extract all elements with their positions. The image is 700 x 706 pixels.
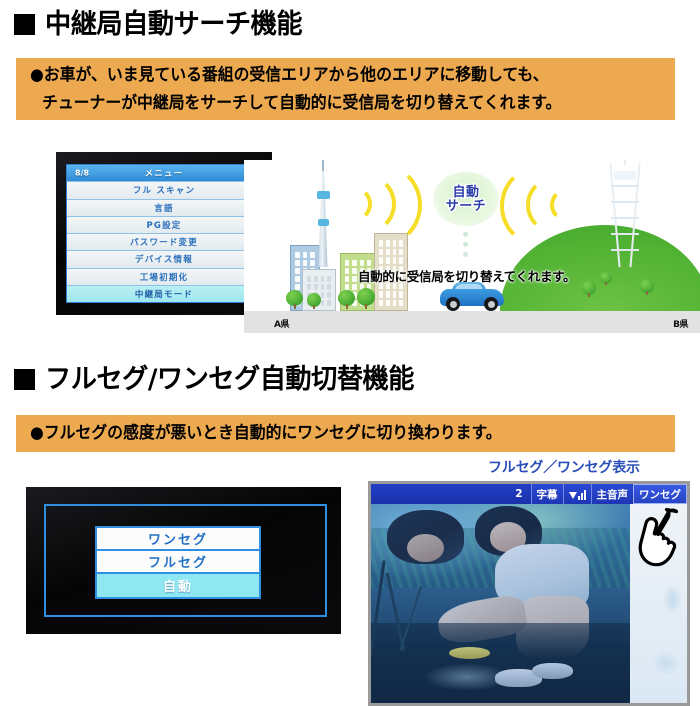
tv-status-bar: 2 字幕 主音声 ワンセグ [371, 484, 687, 504]
transmitter-tower-icon [608, 163, 642, 267]
section-2-heading-text: フルセグ/ワンセグ自動切替機能 [45, 366, 414, 393]
section-1-heading-text: 中継局自動サーチ機能 [45, 11, 302, 38]
menu-item-label: 工場初期化 [140, 271, 189, 283]
tree-icon [600, 272, 612, 287]
menu-title-row: 8/8 メニュー [67, 165, 261, 182]
section-2-banner-line-1: ●フルセグの感度が悪いとき自動的にワンセグに切り換わります。 [30, 425, 649, 442]
tv-caption-indicator: 字幕 [531, 484, 563, 504]
tuner-menu-device-screen: 8/8 メニュー フル スキャン 言語 PG設定 パスワード変更 デバイス情報 … [56, 152, 272, 315]
menu-item-label: 中継局モード [135, 288, 193, 300]
menu-item-device-info[interactable]: デバイス情報 [67, 251, 261, 268]
menu-item-password-change[interactable]: パスワード変更 [67, 234, 261, 251]
tree-icon [640, 279, 654, 297]
menu-item-label: デバイス情報 [135, 253, 193, 265]
section-2-heading: フルセグ/ワンセグ自動切替機能 [14, 366, 425, 393]
tree-icon [338, 290, 355, 311]
signal-bars-icon [563, 484, 591, 504]
tv-body [371, 504, 687, 703]
tv-display-label: フルセグ／ワンセグ表示 [488, 457, 640, 477]
broadcast-tower-icon [314, 160, 332, 267]
tv-display: 2 字幕 主音声 ワンセグ [368, 481, 690, 706]
mode-option-auto[interactable]: 自動 [97, 574, 259, 597]
menu-item-label: 言語 [154, 202, 173, 214]
menu-page-indicator: 8/8 [75, 169, 89, 178]
bullet-square-icon [14, 14, 35, 35]
area-label-right: B県 [673, 317, 688, 330]
relay-search-illustration: 自動 サーチ 自動的に受信局を切り替えてくれます。 A県 B県 [244, 160, 700, 333]
tuner-menu-list[interactable]: 8/8 メニュー フル スキャン 言語 PG設定 パスワード変更 デバイス情報 … [66, 164, 262, 303]
tree-icon [307, 293, 321, 311]
mode-option-fullseg[interactable]: フルセグ [97, 551, 259, 574]
mode-select-device-screen: ワンセグ フルセグ 自動 [26, 487, 341, 634]
tree-icon [582, 281, 596, 299]
auto-search-line-1: 自動 [452, 186, 479, 199]
mode-option-list[interactable]: ワンセグ フルセグ 自動 [95, 526, 261, 599]
menu-item-factory-reset[interactable]: 工場初期化 [67, 269, 261, 286]
tv-photo-content [371, 504, 630, 703]
menu-item-label: フル スキャン [133, 184, 195, 196]
menu-title-label: メニュー [145, 167, 184, 179]
tv-audio-indicator: 主音声 [591, 484, 634, 504]
tree-icon [286, 290, 303, 311]
auto-search-line-2: サーチ [446, 200, 487, 213]
tv-side-panel [630, 504, 687, 703]
section-1-heading: 中継局自動サーチ機能 [14, 11, 310, 38]
section-2-banner: ●フルセグの感度が悪いとき自動的にワンセグに切り換わります。 [16, 415, 675, 452]
tv-channel-number: 2 [371, 484, 531, 504]
section-1-banner-line-1: ●お車が、いま見ている番組の受信エリアから他のエリアに移動しても、 [30, 67, 649, 84]
radio-wave-arc [336, 162, 422, 248]
menu-item-language[interactable]: 言語 [67, 200, 261, 217]
menu-item-full-scan[interactable]: フル スキャン [67, 182, 261, 199]
section-1-banner-line-2: チューナーが中継局をサーチして自動的に受信局を切り替えてくれます。 [42, 95, 650, 112]
mode-option-label: ワンセグ [148, 529, 208, 548]
pointing-hand-cursor-icon [632, 508, 688, 572]
badge-dots-icon [463, 232, 468, 257]
section-1-banner: ●お車が、いま見ている番組の受信エリアから他のエリアに移動しても、 チューナーが… [16, 58, 675, 120]
menu-item-pg-setting[interactable]: PG設定 [67, 217, 261, 234]
ground-strip: A県 B県 [244, 311, 700, 333]
auto-search-badge: 自動 サーチ [433, 172, 499, 226]
menu-item-label: パスワード変更 [130, 236, 198, 248]
mode-option-label: 自動 [163, 576, 193, 595]
tv-mode-indicator: ワンセグ [633, 484, 687, 504]
radio-wave-arc [550, 188, 584, 222]
bullet-square-icon [14, 369, 35, 390]
tree-icon [357, 288, 375, 311]
car-icon [440, 281, 504, 311]
mode-option-oneseg[interactable]: ワンセグ [97, 528, 259, 551]
mode-option-label: フルセグ [148, 552, 208, 571]
menu-item-label: PG設定 [146, 219, 181, 231]
area-label-left: A県 [274, 317, 289, 330]
menu-item-relay-station-mode[interactable]: 中継局モード [67, 286, 261, 302]
